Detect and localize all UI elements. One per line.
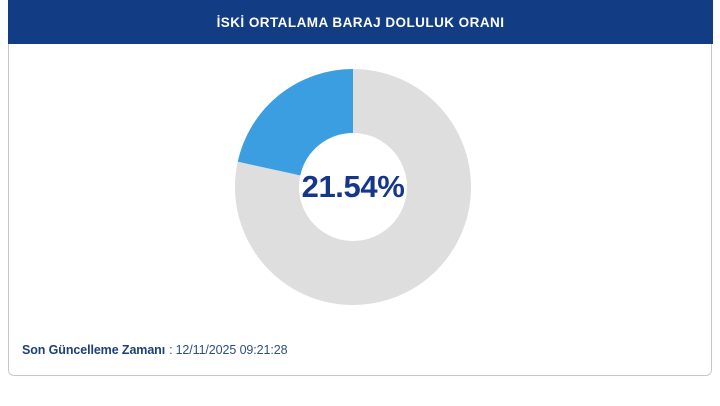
last-update-row: Son Güncelleme Zamanı : 12/11/2025 09:21… [9, 336, 713, 364]
donut-chart[interactable]: 21.54% [234, 68, 472, 306]
donut-chart-svg [234, 68, 472, 306]
last-update-separator: : [169, 343, 172, 357]
last-update-label: Son Güncelleme Zamanı [22, 343, 165, 357]
page-root: İSKİ ORTALAMA BARAJ DOLULUK ORANI 21.54%… [0, 0, 720, 406]
chart-area: 21.54% [9, 44, 713, 329]
page-title: İSKİ ORTALAMA BARAJ DOLULUK ORANI [217, 15, 505, 30]
last-update-value: 12/11/2025 09:21:28 [176, 343, 288, 357]
card-header: İSKİ ORTALAMA BARAJ DOLULUK ORANI [8, 0, 713, 44]
dam-occupancy-card: İSKİ ORTALAMA BARAJ DOLULUK ORANI 21.54%… [8, 0, 712, 376]
